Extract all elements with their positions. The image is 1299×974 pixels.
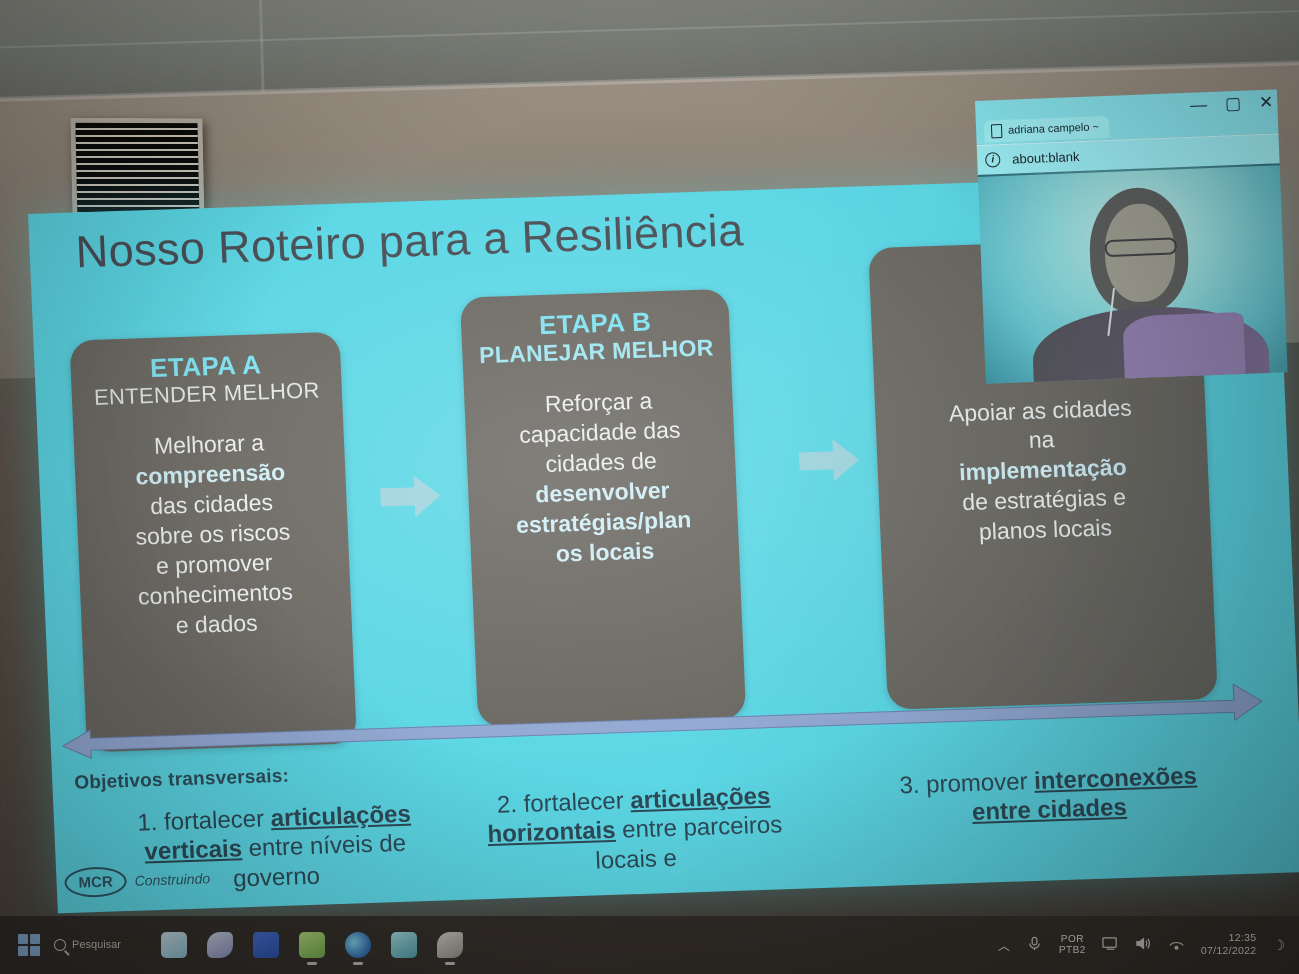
start-button-icon[interactable]	[18, 934, 40, 956]
glasses-icon	[1104, 238, 1177, 258]
etapa-b-subheading: PLANEJAR MELHOR	[472, 335, 721, 368]
stage-box-etapa-b: ETAPA B PLANEJAR MELHOR Reforçar acapaci…	[460, 289, 746, 727]
tray-overflow-chevron-icon[interactable]: ︿	[998, 937, 1010, 954]
microphone-icon[interactable]	[1026, 936, 1043, 954]
green-app-icon[interactable]	[299, 932, 325, 958]
file-explorer-icon[interactable]	[161, 932, 187, 958]
store-icon[interactable]	[391, 932, 417, 958]
window-controls[interactable]: — ▢ ✕	[1190, 94, 1274, 114]
info-icon[interactable]: i	[985, 152, 1001, 168]
maximize-icon[interactable]: ▢	[1225, 95, 1242, 113]
volume-icon[interactable]	[1135, 936, 1152, 954]
browser-window[interactable]: adriana campelo ~ — ▢ ✕ i about:blank	[975, 89, 1288, 383]
objective-item-2: 2. fortalecer articulações horizontais e…	[483, 781, 787, 879]
search-icon	[54, 939, 66, 951]
browser-tab[interactable]: adriana campelo ~	[984, 116, 1110, 143]
close-icon[interactable]: ✕	[1259, 94, 1274, 112]
clock-time: 12:35	[1229, 932, 1257, 944]
logo-mark: MCR	[64, 866, 127, 898]
taskbar-apps[interactable]	[161, 932, 463, 958]
display-icon[interactable]	[1102, 936, 1119, 954]
logo-caption: Construindo	[134, 870, 210, 888]
etapa-b-body: Reforçar acapacidade dascidades dedesenv…	[474, 384, 730, 571]
misc-app-icon[interactable]	[437, 932, 463, 958]
browser-tab-title: adriana campelo ~	[1008, 121, 1099, 136]
language-indicator[interactable]: PORPTB2	[1059, 934, 1086, 957]
address-bar-url[interactable]: about:blank	[1012, 149, 1080, 167]
objective-item-3: 3. promover interconexões entre cidades	[883, 761, 1215, 830]
clock-date: 07/12/2022	[1201, 945, 1257, 957]
taskbar-clock[interactable]: 12:35 07/12/2022	[1201, 932, 1257, 957]
etapa-c-body: Apoiar as cidadesnaimplementaçãode estra…	[885, 391, 1201, 551]
teams-icon[interactable]	[207, 932, 233, 958]
system-tray[interactable]: ︿ PORPTB2	[998, 932, 1299, 957]
objectives-label: Objetivos transversais:	[74, 766, 290, 795]
etapa-a-body: Melhorar acompreensãodas cidadessobre os…	[83, 426, 342, 643]
taskbar-search[interactable]: Pesquisar	[54, 939, 121, 951]
word-icon[interactable]	[253, 932, 279, 958]
stage-box-etapa-a: ETAPA A ENTENDER MELHOR Melhorar acompre…	[69, 332, 356, 753]
minimize-icon[interactable]: —	[1190, 96, 1208, 114]
photo-scene: Nosso Roteiro para a Resiliência ETAPA A…	[0, 0, 1299, 974]
webcam-video[interactable]	[978, 163, 1288, 383]
slide-logo: MCR Construindo	[64, 863, 211, 898]
arrow-right-icon	[379, 472, 441, 520]
notifications-icon[interactable]: ☽	[1272, 937, 1285, 954]
person-shirt	[1122, 312, 1245, 384]
windows-taskbar[interactable]: Pesquisar ︿ PORPTB2	[0, 916, 1299, 974]
arrow-right-icon	[798, 437, 860, 485]
edge-icon[interactable]	[345, 932, 371, 958]
document-icon	[991, 124, 1003, 138]
network-icon[interactable]	[1168, 936, 1185, 954]
search-label: Pesquisar	[72, 939, 121, 951]
